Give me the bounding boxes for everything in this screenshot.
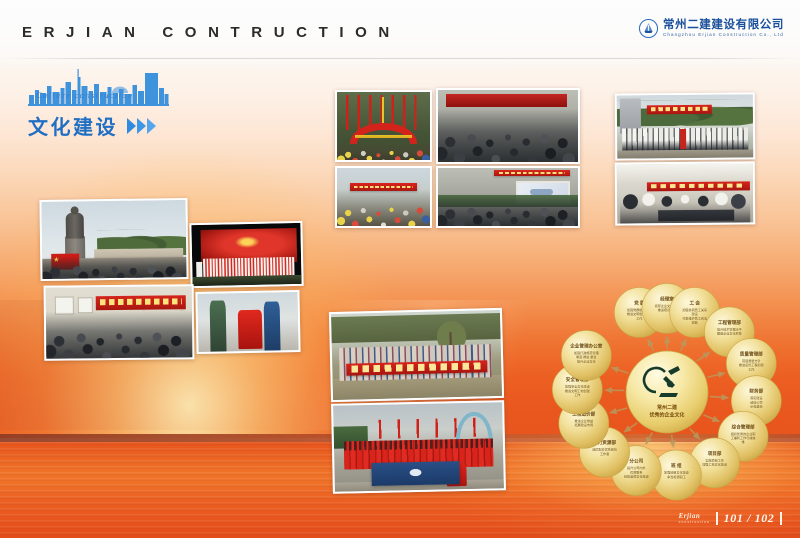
group-photo-red-banner <box>615 92 756 160</box>
chevron-right-icon <box>147 118 156 134</box>
safety-training-lecture-photo <box>436 166 580 228</box>
red-uniform-team-photo <box>331 400 506 494</box>
page-title: ERJIAN CONTRUCTION <box>22 24 401 41</box>
wheel-bubble-desc-line: 拓展建设市场 <box>575 422 594 427</box>
wheel-arrow <box>610 408 627 413</box>
wheel-bubble-desc-line: 示范基地 <box>750 404 762 409</box>
mao-statue-ceremony-photo <box>39 198 188 281</box>
wheel-arrow <box>690 429 700 440</box>
footer-brand-name: Erjian <box>679 513 710 520</box>
company-logo: 常州二建建设有限公司 Changzhou Erjian Construction… <box>639 19 784 38</box>
construction-shield-icon <box>639 19 658 38</box>
wheel-arrow <box>710 397 729 398</box>
section-heading: Culture construction 文化建设 <box>28 64 198 140</box>
wheel-arrow <box>646 432 652 444</box>
chevron-group <box>127 118 156 134</box>
wheel-bubble-desc-line: 工作 <box>748 366 754 371</box>
wheel-node-14[interactable]: 企业管理办公室加强行政规范管理制度 推进 整合提升企业文化 <box>561 330 611 380</box>
city-skyline-icon <box>28 64 169 108</box>
wheel-bubble-desc-line: 提升企业文化 <box>577 358 596 363</box>
outdoor-tent-donation-photo <box>615 161 756 225</box>
chevron-right-icon <box>127 118 136 134</box>
auditorium-assembly-photo <box>436 88 580 164</box>
section-subtitle-en: Culture construction <box>36 91 134 100</box>
footer-brand-sub: construction <box>679 521 710 524</box>
svg-text:常州二建: 常州二建 <box>657 404 678 411</box>
women-outdoor-training-photo <box>329 308 504 402</box>
wheel-bubble-desc-line: 争当和谐职工 <box>667 474 686 479</box>
wheel-bubble-desc-line: 工作 <box>636 315 642 320</box>
wheel-bubble-desc-line: 创建品牌文化建设 <box>624 474 649 479</box>
vertical-rule-icon <box>716 512 718 525</box>
section-title-cn: 文化建设 <box>28 111 118 140</box>
opening-arch-ceremony-photo <box>335 90 432 162</box>
company-name-cn: 常州二建建设有限公司 <box>663 19 784 31</box>
wheel-arrow <box>612 368 629 374</box>
red-jacket-handout-photo <box>195 290 300 354</box>
wheel-bubble-desc-line: 加强工地文化建设 <box>702 462 727 467</box>
brochure-page: ERJIAN CONTRUCTION 常州二建建设有限公司 Changzhou … <box>0 0 800 538</box>
red-song-chorus-stage-photo <box>189 221 303 288</box>
wheel-arrow <box>672 435 674 448</box>
chevron-right-icon <box>137 118 146 134</box>
wheel-bubble-label: 项目部 <box>708 450 722 457</box>
indoor-staff-meeting-photo <box>44 284 195 361</box>
wheel-bubble-label: 分公司 <box>629 458 643 465</box>
culture-organization-wheel-chart: 党 委加强党群组织建设推进文明和谐创建工作经理室领导企业文化建设推进培训工作工 … <box>534 282 800 502</box>
wheel-arrow <box>648 339 654 351</box>
wheel-arrow <box>680 339 686 351</box>
wheel-bubble-desc-line: 工作者 <box>600 451 609 456</box>
wheel-svg: 党 委加强党群组织建设推进文明和谐创建工作经理室领导企业文化建设推进培训工作工 … <box>534 282 800 502</box>
header-divider <box>0 58 800 59</box>
wheel-bubble-desc-line: 塑造企业文化形象 <box>717 331 742 336</box>
company-name-en: Changzhou Erjian Construction Co., Ltd <box>663 33 784 38</box>
wheel-bubble-desc-line: 维 <box>742 439 745 444</box>
wheel-bubble-desc-line: 工作 <box>574 392 580 397</box>
wheel-bubble-label: 质量管理部 <box>740 350 763 357</box>
page-number: 101 / 102 <box>724 511 775 526</box>
outdoor-rally-crowd-photo <box>335 166 432 228</box>
wheel-bubble-label: 班 组 <box>671 462 682 469</box>
wheel-bubble-label: 工程管理部 <box>718 319 741 326</box>
wheel-arrow <box>697 352 710 361</box>
svg-text:优秀的企业文化: 优秀的企业文化 <box>649 412 684 419</box>
wheel-arrow <box>707 373 725 377</box>
wheel-arrow <box>624 423 637 432</box>
wheel-bubble-desc-line: 权益 <box>692 320 698 325</box>
wheel-bubble-label: 企业管理办公室 <box>569 342 603 349</box>
page-footer: Erjian construction 101 / 102 <box>679 511 782 526</box>
wheel-bubble-label: 财务部 <box>748 388 763 395</box>
wheel-bubble-label: 工 会 <box>689 300 700 307</box>
wheel-bubble-label: 综合管理部 <box>732 423 755 430</box>
wheel-arrow <box>704 415 720 422</box>
vertical-rule-icon <box>780 512 782 525</box>
wheel-hub: 常州二建 优秀的企业文化 <box>626 351 708 433</box>
